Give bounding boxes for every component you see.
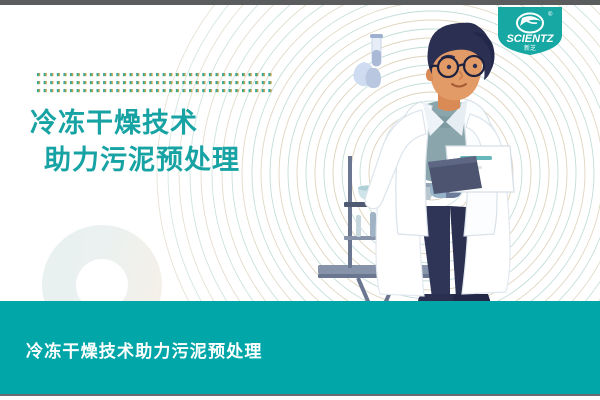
- footer-band: 冷冻干燥技术助力污泥预处理: [0, 301, 600, 394]
- footer-caption: 冷冻干燥技术助力污泥预处理: [26, 337, 263, 362]
- scientist-figure: [354, 23, 515, 305]
- logo-subtext: 新芝: [524, 44, 536, 52]
- title-line-1: 冷冻干燥技术: [30, 105, 240, 142]
- poster-root: 冷冻干燥技术 助力污泥预处理: [0, 0, 600, 400]
- window-top-bar: [0, 0, 600, 5]
- page-title: 冷冻干燥技术 助力污泥预处理: [30, 105, 240, 179]
- logo-wordmark: SCIENTZ: [506, 33, 554, 45]
- window-bottom-bar: [0, 394, 600, 400]
- poster-canvas: 冷冻干燥技术 助力污泥预处理: [0, 5, 600, 394]
- dot-grid-pattern: [37, 72, 275, 96]
- scientist-illustration: [300, 10, 600, 310]
- registered-mark: ®: [548, 11, 553, 18]
- title-line-2: 助力污泥预处理: [44, 142, 240, 179]
- scientz-logo[interactable]: ® SCIENTZ 新芝: [494, 7, 566, 55]
